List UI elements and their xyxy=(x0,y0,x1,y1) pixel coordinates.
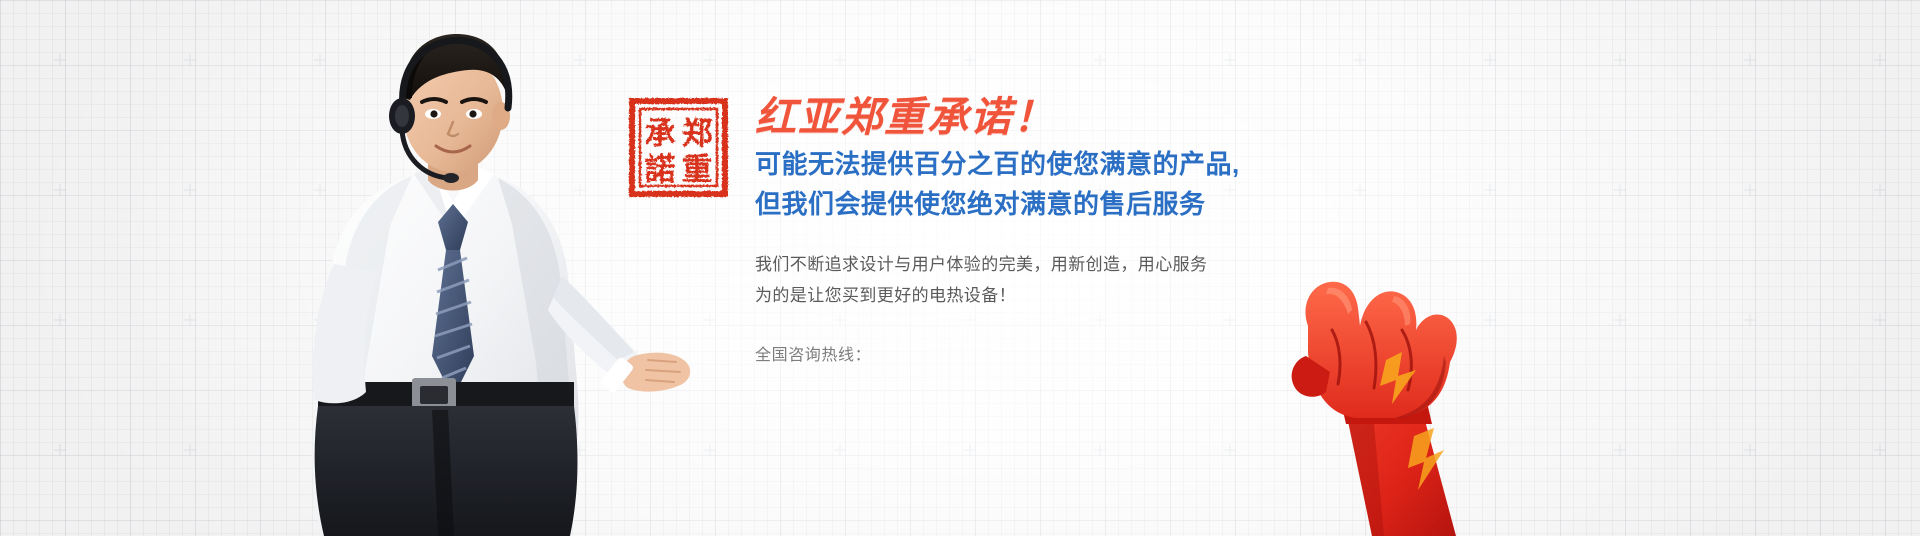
seal-char-zheng: 郑 xyxy=(682,116,713,152)
red-raised-fist-icon xyxy=(1268,252,1478,536)
seal-char-zhong: 重 xyxy=(682,152,713,188)
banner-paragraph-line-2: 为的是让您买到更好的电热设备！ xyxy=(755,280,1275,311)
banner-subtitle-line-2: 但我们会提供使您绝对满意的售后服务 xyxy=(755,187,1275,221)
banner-paragraph-line-1: 我们不断追求设计与用户体验的完美，用新创造，用心服务 xyxy=(755,249,1275,280)
seal-char-nuo: 諾 xyxy=(645,152,676,188)
banner-text-block: 红亚郑重承诺！ 可能无法提供百分之百的使您满意的产品, 但我们会提供使您绝对满意… xyxy=(755,93,1275,367)
red-seal-stamp-icon: 承 郑 諾 重 xyxy=(627,96,730,199)
seal-char-cheng: 承 xyxy=(645,116,676,152)
banner-headline: 红亚郑重承诺！ xyxy=(755,93,1275,141)
banner-subtitle-line-1: 可能无法提供百分之百的使您满意的产品, xyxy=(755,147,1275,181)
promo-banner: 承 郑 諾 重 红亚郑重承诺！ 可能无法提供百分之百的使您满意的产品, 但我们会… xyxy=(0,0,1920,536)
hotline-label: 全国咨询热线： xyxy=(755,345,1275,367)
